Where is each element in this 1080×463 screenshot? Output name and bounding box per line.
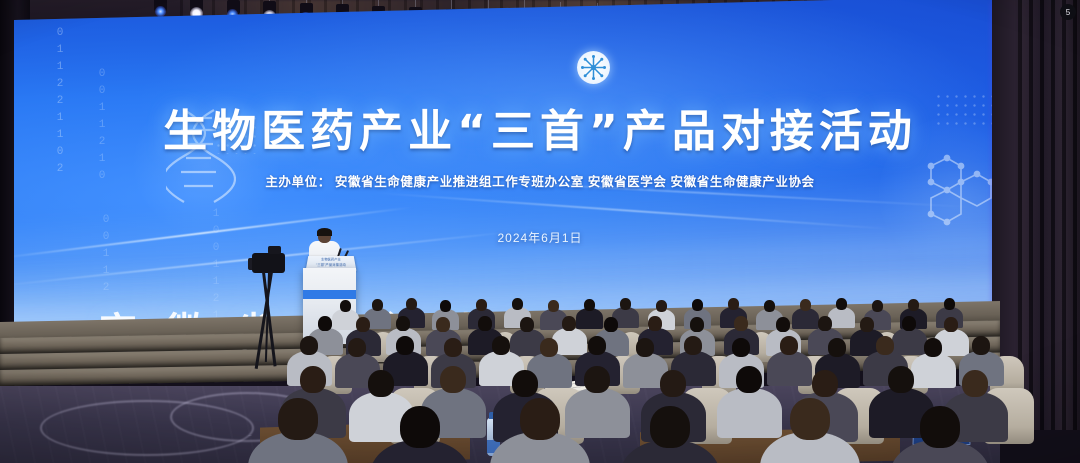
audience-head — [800, 299, 811, 311]
audience-head — [540, 338, 558, 357]
audience-head — [478, 316, 492, 331]
audience-head — [368, 370, 394, 397]
audience-head — [584, 299, 595, 311]
audience-head — [920, 406, 960, 448]
audience-head — [340, 300, 351, 312]
audience-head — [734, 316, 748, 331]
event-organizers: 主办单位： 安徽省生命健康产业推进组工作专班办公室 安徽省医学会 安徽省生命健康… — [0, 171, 1080, 190]
audience-head — [476, 299, 487, 311]
audience-head — [908, 299, 919, 311]
audience-head — [636, 338, 654, 357]
audience-head — [400, 406, 440, 448]
audience-head — [492, 336, 510, 355]
audience-head — [520, 317, 534, 332]
event-date: 2024年6月1日 — [0, 229, 1080, 246]
audience-torso — [510, 329, 545, 356]
audience-head — [736, 366, 762, 393]
light-bulb — [155, 6, 166, 17]
event-title: 生物医药产业“三首”产品对接活动 — [0, 95, 1080, 159]
audience-head — [356, 317, 370, 332]
audience-head — [436, 317, 450, 332]
audience-head — [584, 366, 610, 393]
audience-head — [684, 336, 702, 355]
audience-head — [300, 366, 326, 393]
audience-head — [690, 317, 704, 332]
audience-head — [876, 336, 894, 355]
video-camera — [252, 253, 285, 273]
audience-torso — [911, 353, 956, 387]
audience-head — [732, 338, 750, 357]
audience-head — [764, 300, 775, 312]
speaker-hair — [317, 228, 332, 236]
audience-head — [440, 300, 451, 312]
audience-head — [902, 316, 916, 331]
audience-head — [406, 298, 417, 310]
podium-accent-band — [303, 290, 356, 299]
camera-top-handle — [268, 246, 281, 254]
screenshot-root: 0011221102 0011210 00112 1001121 生物医药产业“… — [0, 0, 1080, 463]
audience-head — [944, 298, 955, 310]
binary-decor-column: 00112 — [100, 214, 112, 304]
molecule-structure-icon — [907, 146, 997, 236]
audience-head — [278, 398, 318, 440]
audience-head — [348, 338, 366, 357]
audience-head — [588, 336, 606, 355]
audience-head — [944, 317, 958, 332]
audience-torso — [767, 351, 812, 385]
audience-head — [728, 298, 739, 310]
audience-head — [520, 398, 560, 440]
audience-torso — [565, 388, 630, 437]
audience-head — [812, 370, 838, 397]
binary-decor-column: 1001121 — [210, 208, 222, 298]
audience-head — [440, 366, 466, 393]
audience-head — [648, 316, 662, 331]
wall-right-slats — [1018, 0, 1080, 430]
audience-head — [818, 316, 832, 331]
audience-head — [656, 300, 667, 312]
audience-head — [692, 299, 703, 311]
audience-head — [620, 298, 631, 310]
audience-head — [444, 338, 462, 357]
audience-head — [512, 298, 523, 310]
audience-head — [372, 299, 383, 311]
podium-sign-line1: 生物医药产业 — [307, 258, 355, 262]
audience-head — [972, 336, 990, 355]
audience-head — [776, 317, 790, 332]
audience-head — [836, 298, 847, 310]
audience-head — [318, 316, 332, 331]
audience-head — [660, 370, 686, 397]
audience-head — [396, 316, 410, 331]
audience-head — [828, 338, 846, 357]
audience-torso — [332, 309, 360, 330]
audience-torso — [892, 328, 927, 355]
audience-head — [604, 317, 618, 332]
audience-torso — [717, 388, 782, 437]
audience-head — [962, 370, 988, 397]
audience-head — [650, 406, 690, 448]
molecule-emblem-icon — [577, 51, 610, 84]
audience-head — [790, 398, 830, 440]
audience-torso — [792, 308, 820, 329]
audience-head — [300, 336, 318, 355]
audience-head — [888, 366, 914, 393]
corner-marker: 5 — [1060, 4, 1076, 20]
audience-head — [872, 300, 883, 312]
audience-head — [780, 336, 798, 355]
audience-head — [512, 370, 538, 397]
audience-head — [924, 338, 942, 357]
audience-head — [396, 336, 414, 355]
audience-head — [562, 316, 576, 331]
stage-light — [155, 6, 166, 17]
audience-head — [860, 317, 874, 332]
audience-head — [548, 300, 559, 312]
emblem-glyph — [577, 51, 610, 84]
audience-torso — [576, 308, 604, 329]
